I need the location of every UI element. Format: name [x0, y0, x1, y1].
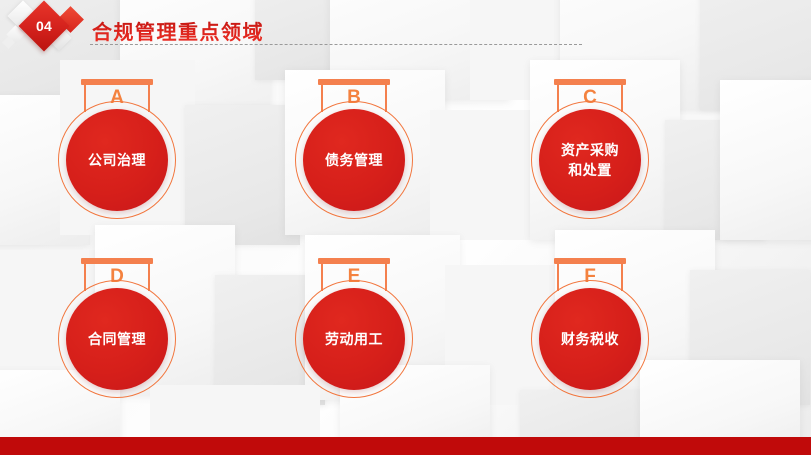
node-stem-right: [385, 85, 387, 112]
footer-accent-bar: [0, 437, 811, 455]
node-top-bar: [318, 258, 390, 264]
node-stem-right: [385, 264, 387, 291]
node-f[interactable]: F 财务税收: [531, 258, 677, 408]
node-stem-right: [148, 264, 150, 291]
node-disc[interactable]: 资产采购 和处置: [539, 109, 641, 211]
node-top-bar: [554, 79, 626, 85]
node-label: 合同管理: [88, 329, 146, 349]
node-disc[interactable]: 合同管理: [66, 288, 168, 390]
node-b[interactable]: B 债务管理: [295, 79, 441, 229]
section-number-label: 04: [26, 8, 62, 44]
node-stem-right: [621, 264, 623, 291]
node-disc[interactable]: 财务税收: [539, 288, 641, 390]
node-disc[interactable]: 债务管理: [303, 109, 405, 211]
node-stem-right: [148, 85, 150, 112]
node-label: 债务管理: [325, 150, 383, 170]
node-e[interactable]: E 劳动用工: [295, 258, 441, 408]
bg-square: [665, 120, 765, 240]
node-label: 资产采购 和处置: [561, 140, 619, 180]
slide-header: 04 合规管理重点领域: [0, 0, 811, 60]
node-label: 公司治理: [88, 150, 146, 170]
node-c[interactable]: C 资产采购 和处置: [531, 79, 677, 229]
section-number-logo: 04: [4, 2, 90, 54]
node-label: 劳动用工: [325, 329, 383, 349]
bg-square: [720, 80, 811, 240]
title-divider: [90, 44, 582, 45]
node-a[interactable]: A 公司治理: [58, 79, 204, 229]
bg-square: [690, 270, 810, 405]
page-title: 合规管理重点领域: [92, 16, 264, 45]
node-d[interactable]: D 合同管理: [58, 258, 204, 408]
slide-canvas: 04 合规管理重点领域 A 公司治理 B 债务管理 C 资产采购 和处置: [0, 0, 811, 455]
node-top-bar: [81, 79, 153, 85]
node-label: 财务税收: [561, 329, 619, 349]
node-top-bar: [318, 79, 390, 85]
node-stem-right: [621, 85, 623, 112]
node-top-bar: [554, 258, 626, 264]
node-disc[interactable]: 劳动用工: [303, 288, 405, 390]
node-top-bar: [81, 258, 153, 264]
node-disc[interactable]: 公司治理: [66, 109, 168, 211]
